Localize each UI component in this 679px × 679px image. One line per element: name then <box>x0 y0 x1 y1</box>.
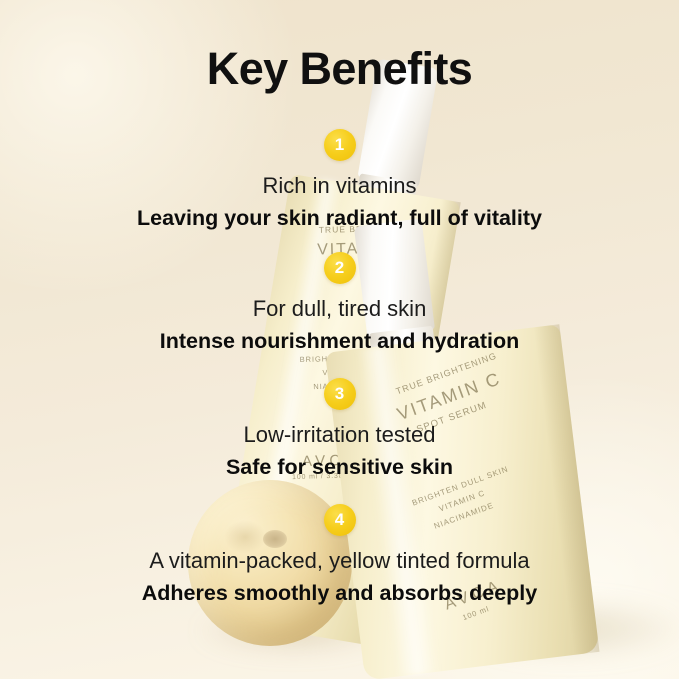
key-benefits-graphic: TRUE BRIGHTENING VITAMIN C SPOT SERUM BR… <box>0 0 679 679</box>
benefit-item-3: 3 Low-irritation tested Safe for sensiti… <box>0 378 679 480</box>
benefit-badge-3: 3 <box>324 378 356 410</box>
benefit-4-line-bold: Adheres smoothly and absorbs deeply <box>0 581 679 606</box>
benefit-2-line-regular: For dull, tired skin <box>0 296 679 322</box>
benefit-3-line-bold: Safe for sensitive skin <box>0 455 679 480</box>
benefit-badge-2: 2 <box>324 252 356 284</box>
benefit-badge-1: 1 <box>324 129 356 161</box>
benefit-1-line-regular: Rich in vitamins <box>0 173 679 199</box>
benefit-2-line-bold: Intense nourishment and hydration <box>0 329 679 354</box>
benefits-copy: Key Benefits 1 Rich in vitamins Leaving … <box>0 0 679 679</box>
page-title: Key Benefits <box>0 46 679 91</box>
benefit-item-4: 4 A vitamin-packed, yellow tinted formul… <box>0 504 679 606</box>
benefit-item-2: 2 For dull, tired skin Intense nourishme… <box>0 252 679 354</box>
benefit-badge-4: 4 <box>324 504 356 536</box>
benefit-4-line-regular: A vitamin-packed, yellow tinted formula <box>0 548 679 574</box>
benefit-3-line-regular: Low-irritation tested <box>0 422 679 448</box>
benefit-1-line-bold: Leaving your skin radiant, full of vital… <box>0 206 679 231</box>
benefit-item-1: 1 Rich in vitamins Leaving your skin rad… <box>0 129 679 231</box>
